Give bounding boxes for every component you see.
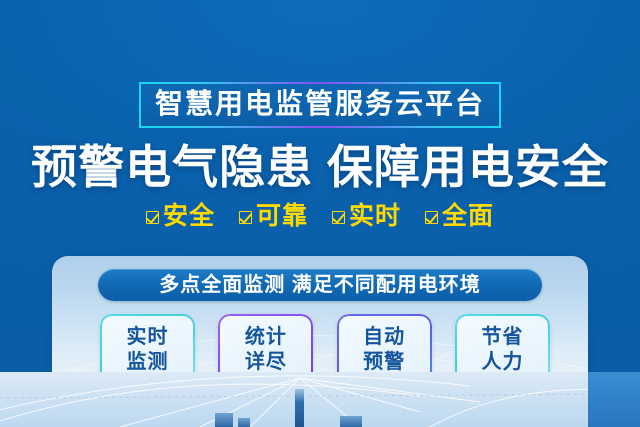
card-line-1: 节省 <box>481 325 523 350</box>
keyword-label: 可靠 <box>256 202 308 231</box>
poster-canvas: 智慧用电监管服务云平台 预警电气隐患 保障用电安全 安全 可靠 实时 全面 <box>0 0 640 427</box>
checkbox-checked-icon <box>239 211 252 224</box>
bottom-cityscape <box>0 372 640 427</box>
keyword-label: 实时 <box>349 202 401 231</box>
title-container: 智慧用电监管服务云平台 <box>0 82 640 128</box>
headline: 预警电气隐患 保障用电安全 <box>0 140 640 194</box>
checkbox-checked-icon <box>425 211 438 224</box>
keyword-item: 实时 <box>332 202 401 231</box>
keyword-label: 全面 <box>442 202 494 231</box>
tower-shape <box>295 389 304 427</box>
sub-banner: 多点全面监测 满足不同配用电环境 <box>98 269 542 301</box>
building-shape <box>238 418 250 427</box>
keyword-item: 全面 <box>425 202 494 231</box>
card-line-1: 统计 <box>245 325 287 350</box>
title-box: 智慧用电监管服务云平台 <box>139 82 501 128</box>
keyword-row: 安全 可靠 实时 全面 <box>0 202 640 231</box>
checkbox-checked-icon <box>332 211 345 224</box>
building-shape <box>340 416 362 427</box>
building-shape <box>215 413 233 427</box>
keyword-item: 可靠 <box>239 202 308 231</box>
checkbox-checked-icon <box>146 211 159 224</box>
sub-banner-text: 多点全面监测 满足不同配用电环境 <box>159 273 481 297</box>
keyword-item: 安全 <box>146 202 215 231</box>
card-line-1: 自动 <box>363 325 405 350</box>
keyword-label: 安全 <box>163 202 215 231</box>
bottom-network-lines-decoration <box>0 372 640 427</box>
page-title: 智慧用电监管服务云平台 <box>155 87 485 121</box>
bottom-right-block <box>588 372 640 427</box>
card-line-1: 实时 <box>127 325 169 350</box>
